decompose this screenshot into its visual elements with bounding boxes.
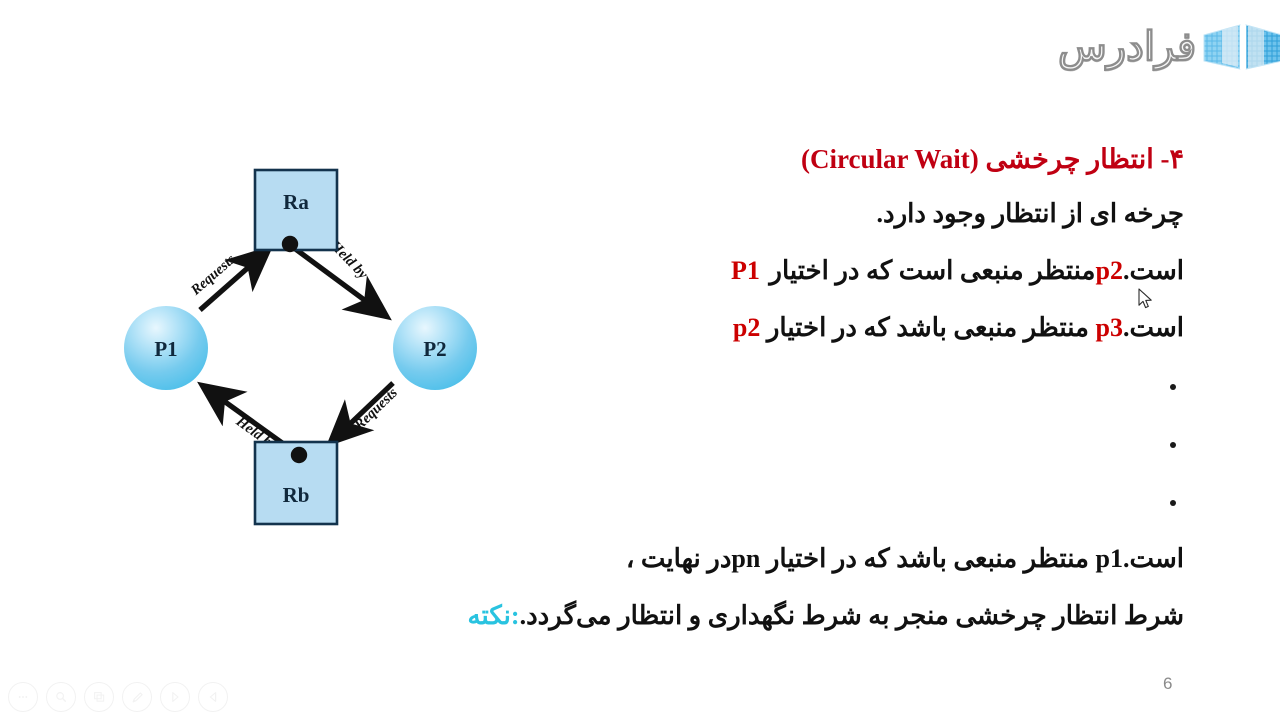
token-pn: pn	[731, 544, 760, 573]
ellipsis-icon	[16, 690, 30, 704]
edge-p1-requests-ra: Requests	[187, 250, 268, 310]
note-text: شرط انتظار چرخشی منجر به شرط نگهداری و ا…	[520, 601, 1184, 630]
resource-instance-dot-rb	[291, 447, 307, 463]
slides-grid-icon	[92, 690, 106, 704]
page-title: ۴- انتظار چرخشی (Circular Wait)	[512, 146, 1184, 173]
pn-waits-lead: در نهایت ،	[626, 544, 731, 573]
brand-logo: فرادرس	[1058, 14, 1258, 86]
next-button[interactable]	[160, 682, 190, 712]
node-resource-rb: Rb	[255, 442, 337, 524]
node-label-rb: Rb	[283, 483, 310, 507]
node-process-p2: P2	[393, 306, 477, 390]
node-label-p1: P1	[154, 337, 177, 361]
pn-waits-suffix: است.	[1123, 544, 1184, 573]
node-resource-ra: Ra	[255, 170, 337, 252]
play-triangle-icon	[168, 690, 182, 704]
ellipsis-dot-2	[512, 430, 1184, 457]
node-label-ra: Ra	[283, 190, 309, 214]
token-p1-final: p1	[1095, 544, 1122, 573]
node-label-p2: P2	[423, 337, 446, 361]
open-book-icon	[1202, 21, 1280, 79]
p2-waits-mid: منتظر منبعی باشد که در اختیار	[760, 313, 1095, 342]
pn-waits-mid: منتظر منبعی باشد که در اختیار	[760, 544, 1095, 573]
player-toolbar	[8, 682, 228, 712]
bullet-pn-waits: است.p1 منتظر منبعی باشد که در اختیار pnد…	[512, 546, 1184, 572]
slide-body: ۴- انتظار چرخشی (Circular Wait) چرخه ای …	[512, 146, 1184, 660]
more-button[interactable]	[8, 682, 38, 712]
magnifier-icon	[54, 690, 68, 704]
pen-icon	[130, 690, 145, 705]
p1-waits-prefix: منتظر منبعی است که در اختیار	[763, 256, 1096, 285]
edge-p2-requests-rb: Requests	[331, 383, 401, 442]
bullet-p1-waits: است.p2منتظر منبعی است که در اختیار P1	[512, 258, 1184, 284]
highlighted-token-p1[interactable]: P1	[728, 258, 763, 284]
note-line: شرط انتظار چرخشی منجر به شرط نگهداری و ا…	[512, 603, 1184, 629]
logo-wordmark: فرادرس	[1058, 27, 1196, 73]
node-process-p1: P1	[124, 306, 208, 390]
token-p2-lead: p2	[733, 313, 760, 342]
bullet-cycle-exists-text: چرخه ای از انتظار وجود دارد.	[877, 199, 1184, 228]
page-number: 6	[1163, 674, 1172, 694]
token-p3: p3	[1095, 313, 1122, 342]
slides-button[interactable]	[84, 682, 114, 712]
bullet-p2-waits: است.p3 منتظر منبعی باشد که در اختیار p2	[512, 315, 1184, 341]
token-p1: P1	[731, 256, 760, 285]
zoom-button[interactable]	[46, 682, 76, 712]
pen-button[interactable]	[122, 682, 152, 712]
edge-label-requests-bottom: Requests	[351, 385, 401, 434]
previous-triangle-icon	[206, 690, 220, 704]
bullet-cycle-exists: چرخه ای از انتظار وجود دارد.	[512, 201, 1184, 227]
p1-waits-suffix: است.	[1123, 256, 1184, 285]
token-p2: p2	[1095, 256, 1122, 285]
p2-waits-suffix: است.	[1123, 313, 1184, 342]
previous-button[interactable]	[198, 682, 228, 712]
resource-allocation-graph: Requests Held by Requests Held by Ra Rb	[96, 150, 536, 550]
resource-instance-dot-ra	[282, 236, 298, 252]
vertical-ellipsis	[512, 372, 1184, 515]
edge-label-requests-top: Requests	[187, 251, 239, 299]
note-label: نکته	[468, 601, 511, 630]
note-colon: :	[511, 601, 520, 630]
ellipsis-dot-1	[512, 372, 1184, 399]
ellipsis-dot-3	[512, 488, 1184, 515]
